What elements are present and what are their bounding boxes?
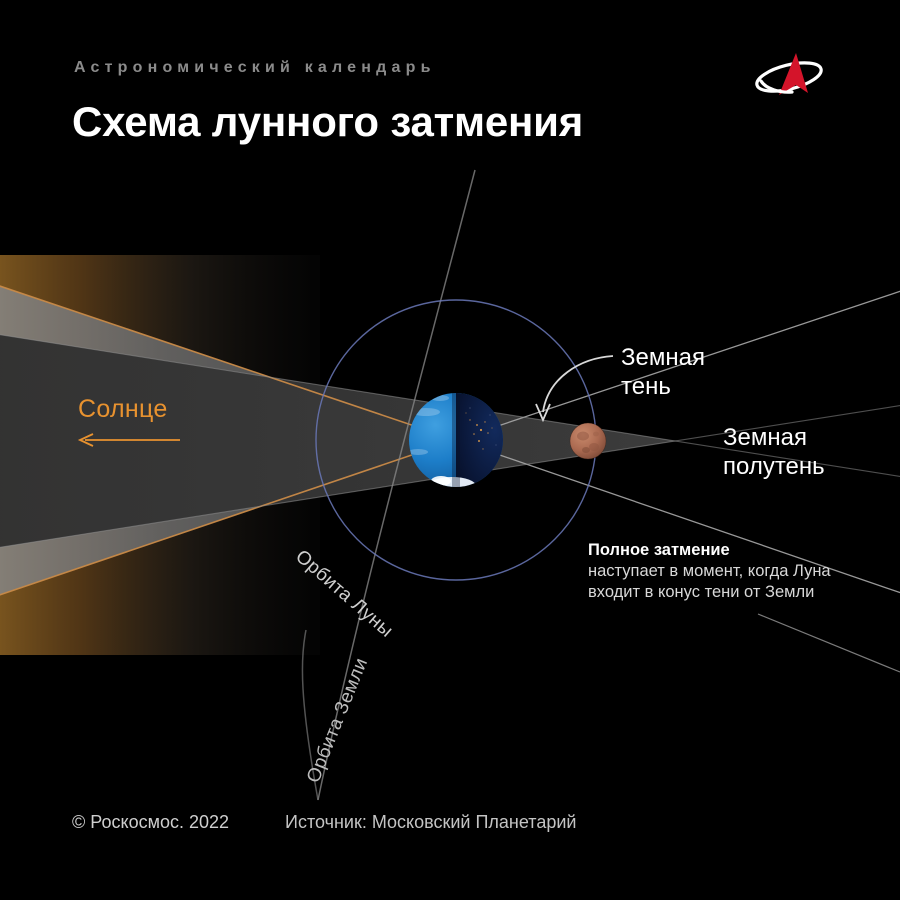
total-eclipse-note: Полное затмение наступает в момент, когд… — [588, 540, 838, 603]
penumbra-label: Земная полутень — [723, 423, 825, 481]
page-title: Схема лунного затмения — [72, 98, 583, 146]
footer-source: Источник: Московский Планетарий — [285, 812, 576, 833]
footer-copyright: © Роскосмос. 2022 — [72, 812, 229, 833]
moon — [570, 423, 606, 459]
note-heading: Полное затмение — [588, 540, 838, 561]
note-leader-line — [758, 614, 900, 672]
note-body: наступает в момент, когда Луна входит в … — [588, 562, 831, 601]
umbra-label: Земная тень — [621, 343, 705, 401]
roscosmos-logo — [752, 46, 826, 102]
infographic-poster: Астрономический календарь Схема лунного … — [0, 0, 900, 900]
sun-label: Солнце — [78, 395, 168, 424]
kicker-text: Астрономический календарь — [74, 59, 436, 77]
